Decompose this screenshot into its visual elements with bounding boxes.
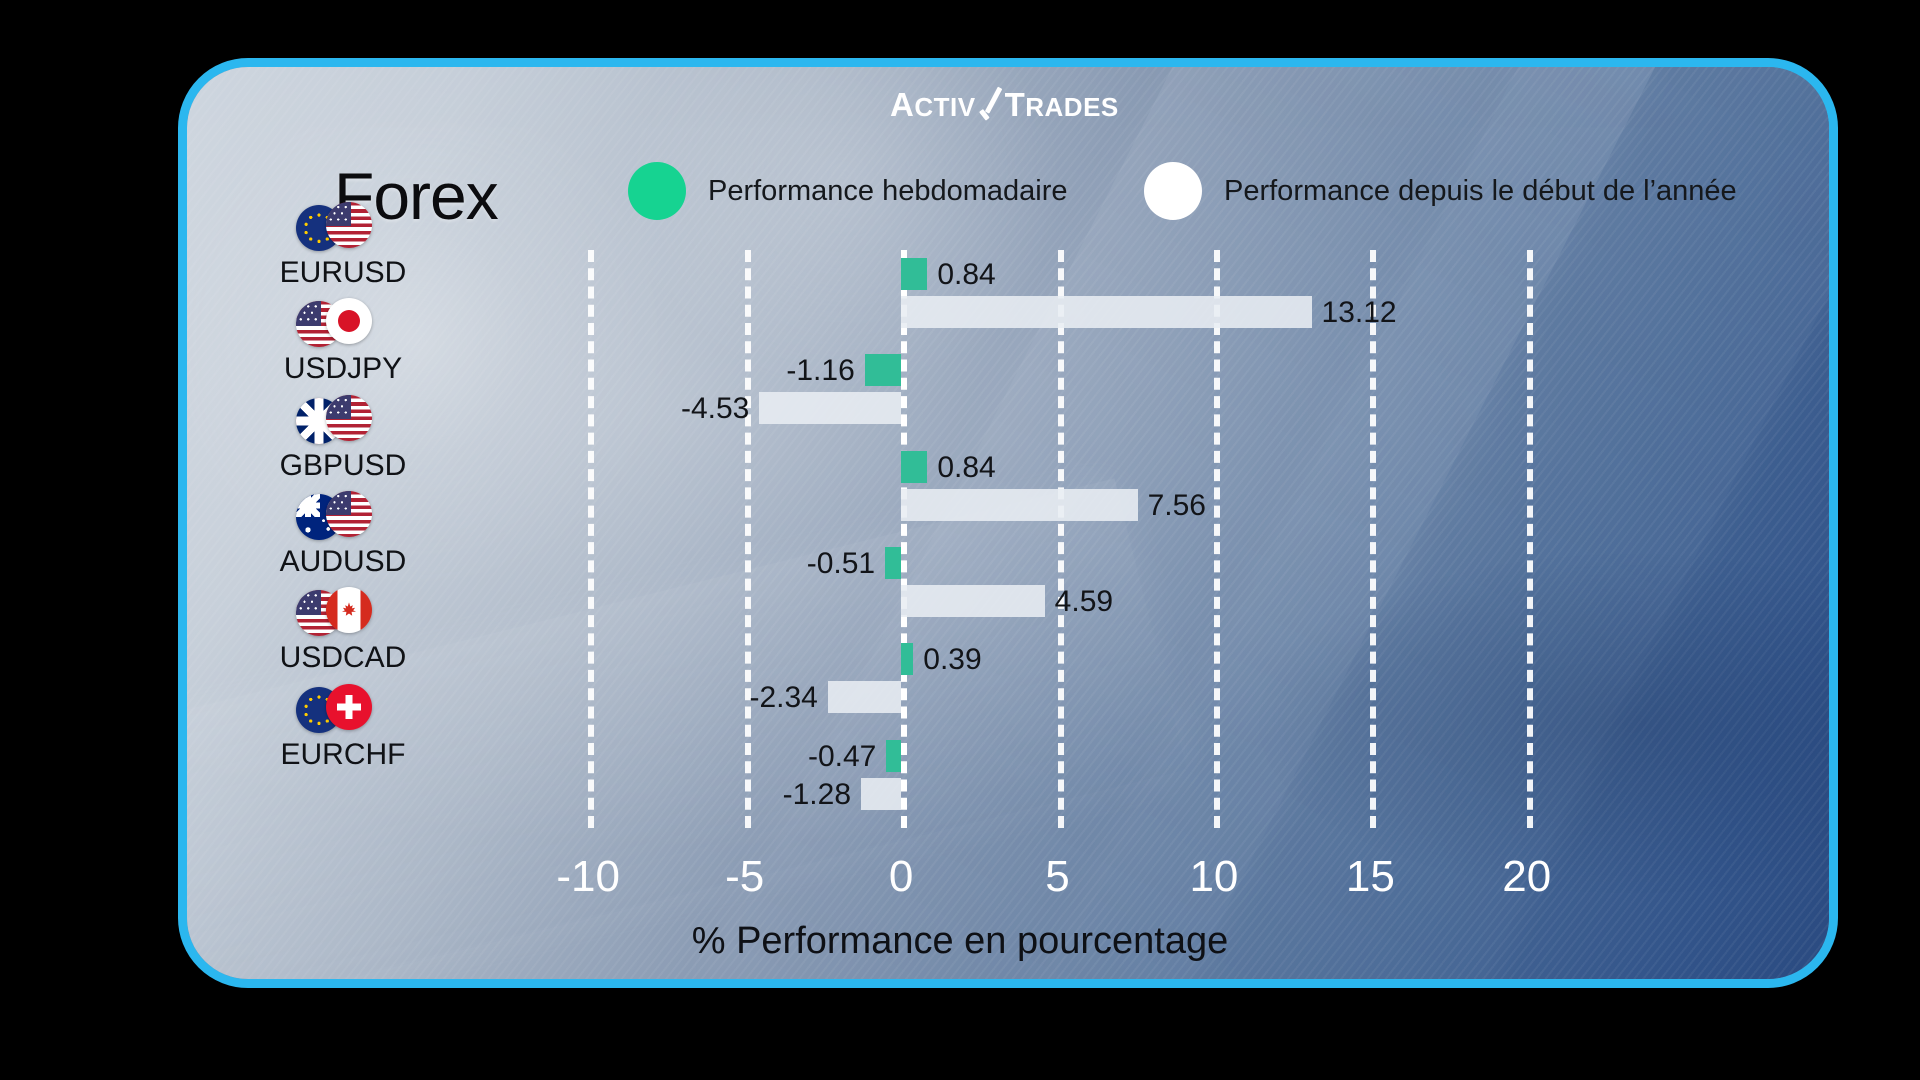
bar-eurchf-week	[886, 740, 901, 772]
value-label-usdcad-ytd: -2.34	[749, 682, 817, 714]
x-tick--5: -5	[725, 852, 764, 902]
value-label-gbpusd-week: 0.84	[937, 452, 995, 484]
bar-gbpusd-week	[901, 451, 927, 483]
legend-item-ytd: Performance depuis le début de l’année	[1144, 162, 1737, 220]
category-usdcad: USDCAD	[228, 587, 458, 675]
legend-dot-green	[628, 162, 686, 220]
x-tick--10: -10	[556, 852, 620, 902]
bar-audusd-ytd	[901, 585, 1045, 617]
flag-jp-icon	[326, 298, 372, 344]
bar-usdcad-ytd	[828, 681, 901, 713]
brand-logo-trades: Trades	[1005, 86, 1119, 124]
category-label: GBPUSD	[228, 449, 458, 483]
legend-item-weekly: Performance hebdomadaire	[628, 162, 1067, 220]
value-label-audusd-week: -0.51	[807, 548, 875, 580]
x-tick-15: 15	[1346, 852, 1395, 902]
check-slash-icon	[978, 88, 1004, 122]
x-tick-10: 10	[1189, 852, 1238, 902]
legend-dot-white	[1144, 162, 1202, 220]
category-usdjpy: USDJPY	[228, 298, 458, 386]
flag-pair-usdcad	[228, 587, 458, 639]
legend-label-weekly: Performance hebdomadaire	[708, 175, 1067, 208]
legend-label-ytd: Performance depuis le début de l’année	[1224, 175, 1737, 208]
flag-ch-icon	[326, 684, 372, 730]
category-label: EURCHF	[228, 738, 458, 772]
flag-us-icon	[326, 202, 372, 248]
brand-logo: Activ Trades	[890, 86, 1119, 124]
category-eurusd: EURUSD	[228, 202, 458, 290]
flag-pair-gbpusd	[228, 395, 458, 447]
category-label: USDCAD	[228, 641, 458, 675]
bar-audusd-week	[885, 547, 901, 579]
bar-usdjpy-week	[865, 354, 901, 386]
screenshot-root: Activ Trades Forex Performance hebdomada…	[0, 0, 1920, 1080]
flag-us-icon	[326, 395, 372, 441]
plot-area: 0.8413.12-1.16-4.530.847.56-0.514.590.39…	[510, 250, 1605, 828]
category-eurchf: EURCHF	[228, 684, 458, 772]
x-tick-0: 0	[889, 852, 913, 902]
bars-layer: 0.8413.12-1.16-4.530.847.56-0.514.590.39…	[510, 250, 1605, 828]
x-axis-title: % Performance en pourcentage	[0, 920, 1920, 963]
value-label-eurchf-week: -0.47	[808, 741, 876, 773]
value-label-eurusd-week: 0.84	[937, 259, 995, 291]
x-tick-20: 20	[1502, 852, 1551, 902]
flag-pair-usdjpy	[228, 298, 458, 350]
category-audusd: AUDUSD	[228, 491, 458, 579]
value-label-gbpusd-ytd: 7.56	[1148, 490, 1206, 522]
bar-eurchf-ytd	[861, 778, 901, 810]
flag-us-icon	[326, 491, 372, 537]
value-label-eurusd-ytd: 13.12	[1322, 297, 1397, 329]
flag-pair-eurusd	[228, 202, 458, 254]
category-gbpusd: GBPUSD	[228, 395, 458, 483]
value-label-usdcad-week: 0.39	[923, 644, 981, 676]
value-label-audusd-ytd: 4.59	[1055, 586, 1113, 618]
category-label: AUDUSD	[228, 545, 458, 579]
bar-eurusd-ytd	[901, 296, 1311, 328]
flag-pair-audusd	[228, 491, 458, 543]
value-label-eurchf-ytd: -1.28	[783, 779, 851, 811]
category-label: USDJPY	[228, 352, 458, 386]
value-label-usdjpy-ytd: -4.53	[681, 393, 749, 425]
bar-eurusd-week	[901, 258, 927, 290]
flag-pair-eurchf	[228, 684, 458, 736]
x-tick-5: 5	[1045, 852, 1069, 902]
bar-gbpusd-ytd	[901, 489, 1138, 521]
value-label-usdjpy-week: -1.16	[786, 355, 854, 387]
brand-logo-activ: Activ	[890, 86, 976, 124]
bar-usdjpy-ytd	[759, 392, 901, 424]
category-label: EURUSD	[228, 256, 458, 290]
bar-usdcad-week	[901, 643, 913, 675]
flag-ca-icon	[326, 587, 372, 633]
